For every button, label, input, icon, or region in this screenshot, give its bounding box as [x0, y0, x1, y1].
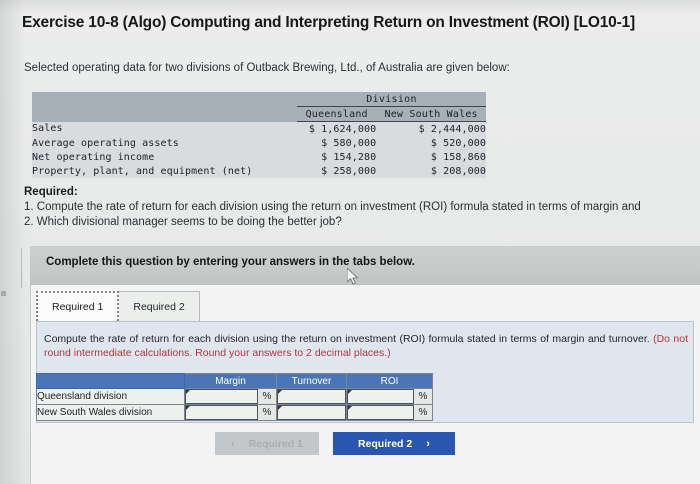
answer-header-roi: ROI: [347, 374, 433, 389]
margin-percent-label-queensland: %: [258, 389, 276, 404]
data-row-label-sales: Sales: [32, 122, 291, 137]
table-row: Property, plant, and equipment (net) $ 2…: [32, 164, 486, 178]
scrollbar-hairline[interactable]: [21, 248, 22, 288]
data-cell-noi-nsw: $ 158,860: [376, 150, 486, 164]
answer-header-turnover: Turnover: [277, 374, 347, 389]
data-table-group-header: Division: [297, 92, 486, 107]
answer-row-label-queensland: Queensland division: [37, 389, 185, 405]
exercise-intro-text: Selected operating data for two division…: [24, 62, 510, 74]
scroll-tick-marker: [1, 291, 6, 296]
roi-percent-label-queensland: %: [414, 389, 432, 404]
tab-required-1[interactable]: Required 1: [36, 291, 119, 321]
data-table-col-new-south-wales: New South Wales: [376, 107, 486, 122]
answer-cell-margin-nsw: %: [185, 405, 277, 421]
prev-required-1-button[interactable]: ‹ Required 1: [215, 432, 319, 455]
exercise-title: Exercise 10-8 (Algo) Computing and Inter…: [22, 14, 635, 32]
data-row-label-net-operating-income: Net operating income: [32, 150, 291, 164]
answer-row-label-new-south-wales: New South Wales division: [37, 405, 185, 421]
tab-required-2[interactable]: Required 2: [119, 291, 199, 321]
data-row-label-avg-operating-assets: Average operating assets: [32, 136, 291, 150]
roi-input-nsw[interactable]: [347, 405, 414, 420]
margin-input-queensland[interactable]: [185, 389, 258, 404]
data-cell-noi-queensland: $ 154,280: [297, 150, 376, 164]
required-item-2: 2. Which divisional manager seems to be …: [24, 215, 700, 230]
answer-cell-margin-queensland: %: [185, 389, 277, 405]
question-banner-text: Complete this question by entering your …: [46, 256, 415, 268]
answer-cell-roi-nsw: %: [347, 405, 433, 421]
data-cell-ppe-nsw: $ 208,000: [376, 164, 486, 178]
answer-cell-turnover-queensland: [277, 389, 347, 405]
required-item-1: 1. Compute the rate of return for each d…: [24, 200, 700, 215]
prev-button-label: Required 1: [249, 438, 303, 450]
answer-table-header-row: Margin Turnover ROI: [37, 374, 433, 389]
turnover-input-queensland[interactable]: [277, 389, 346, 404]
page-root: Exercise 10-8 (Algo) Computing and Inter…: [0, 0, 700, 484]
tabstrip: Required 1 Required 2: [36, 291, 200, 321]
turnover-input-nsw[interactable]: [277, 405, 346, 420]
table-row: Net operating income $ 154,280 $ 158,860: [32, 150, 486, 164]
required-heading: Required:: [24, 186, 700, 198]
roi-percent-label-nsw: %: [414, 405, 432, 420]
data-cell-avg-assets-nsw: $ 520,000: [376, 136, 486, 150]
data-cell-sales-queensland: $ 1,624,000: [297, 122, 376, 137]
answer-cell-roi-queensland: %: [347, 389, 433, 405]
answer-instruction-main: Compute the rate of return for each divi…: [44, 333, 653, 345]
table-row: Average operating assets $ 580,000 $ 520…: [32, 136, 486, 150]
chevron-right-icon: ›: [426, 438, 430, 450]
data-cell-avg-assets-queensland: $ 580,000: [297, 136, 376, 150]
margin-percent-label-nsw: %: [258, 405, 276, 420]
answer-input-table: Margin Turnover ROI Queensland division …: [36, 373, 433, 421]
navigation-buttons: ‹ Required 1 Required 2 ›: [215, 432, 455, 455]
chevron-left-icon: ‹: [231, 438, 235, 450]
data-row-label-ppe: Property, plant, and equipment (net): [32, 164, 291, 178]
data-table-group-header-row: Division: [32, 92, 486, 107]
answer-header-blank: [37, 374, 185, 389]
margin-input-nsw[interactable]: [185, 405, 258, 420]
answer-instruction: Compute the rate of return for each divi…: [44, 333, 688, 360]
answer-header-margin: Margin: [185, 374, 277, 389]
data-cell-sales-nsw: $ 2,444,000: [376, 122, 486, 137]
next-required-2-button[interactable]: Required 2 ›: [333, 432, 455, 455]
operating-data-table: Division Queensland New South Wales Sale…: [32, 92, 486, 178]
answer-cell-turnover-nsw: [277, 405, 347, 421]
next-button-label: Required 2: [358, 438, 412, 450]
table-row: Sales $ 1,624,000 $ 2,444,000: [32, 122, 486, 137]
data-cell-ppe-queensland: $ 258,000: [297, 164, 376, 178]
table-row: Queensland division % %: [37, 389, 433, 405]
required-section: Required: 1. Compute the rate of return …: [24, 186, 700, 230]
data-table-column-header-row: Queensland New South Wales: [32, 107, 486, 122]
data-table-col-queensland: Queensland: [297, 107, 376, 122]
table-row: New South Wales division % %: [37, 405, 433, 421]
roi-input-queensland[interactable]: [347, 389, 414, 404]
